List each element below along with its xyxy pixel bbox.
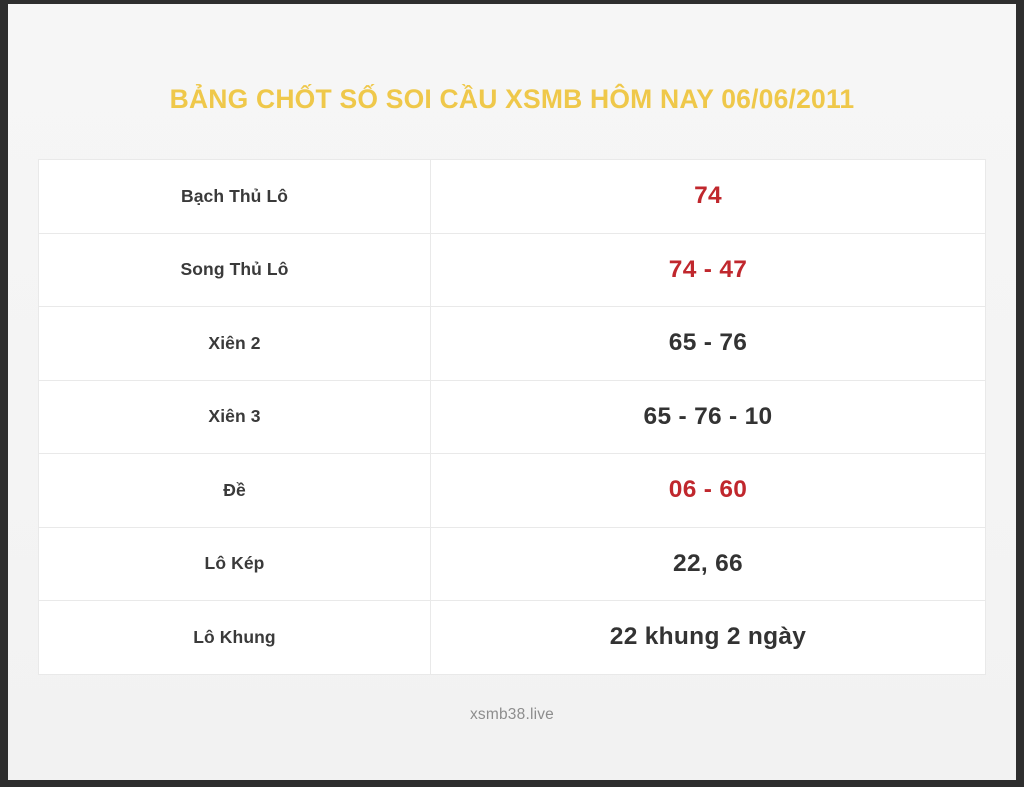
table-row: Xiên 2 65 - 76: [39, 307, 986, 381]
row-label: Xiên 3: [39, 380, 431, 454]
row-label: Đề: [39, 454, 431, 528]
row-value: 74 - 47: [431, 233, 986, 307]
table-row: Lô Khung 22 khung 2 ngày: [39, 601, 986, 675]
site-watermark: xsmb38.live: [8, 706, 1016, 724]
row-value: 65 - 76: [431, 307, 986, 381]
lottery-prediction-table: Bạch Thủ Lô 74 Song Thủ Lô 74 - 47 Xiên …: [38, 159, 986, 675]
row-label: Bạch Thủ Lô: [39, 160, 431, 234]
row-value: 74: [431, 160, 986, 234]
image-frame: BẢNG CHỐT SỐ SOI CẦU XSMB HÔM NAY 06/06/…: [0, 0, 1024, 787]
row-label: Lô Khung: [39, 601, 431, 675]
table-row: Bạch Thủ Lô 74: [39, 160, 986, 234]
table-row: Xiên 3 65 - 76 - 10: [39, 380, 986, 454]
table-row: Đề 06 - 60: [39, 454, 986, 528]
page-title: BẢNG CHỐT SỐ SOI CẦU XSMB HÔM NAY 06/06/…: [8, 84, 1016, 114]
row-label: Lô Kép: [39, 527, 431, 601]
row-value: 65 - 76 - 10: [431, 380, 986, 454]
row-value: 22, 66: [431, 527, 986, 601]
table-row: Song Thủ Lô 74 - 47: [39, 233, 986, 307]
row-label: Song Thủ Lô: [39, 233, 431, 307]
row-value: 06 - 60: [431, 454, 986, 528]
table-row: Lô Kép 22, 66: [39, 527, 986, 601]
row-label: Xiên 2: [39, 307, 431, 381]
row-value: 22 khung 2 ngày: [431, 601, 986, 675]
content-canvas: BẢNG CHỐT SỐ SOI CẦU XSMB HÔM NAY 06/06/…: [8, 4, 1016, 780]
table-body: Bạch Thủ Lô 74 Song Thủ Lô 74 - 47 Xiên …: [39, 160, 986, 675]
